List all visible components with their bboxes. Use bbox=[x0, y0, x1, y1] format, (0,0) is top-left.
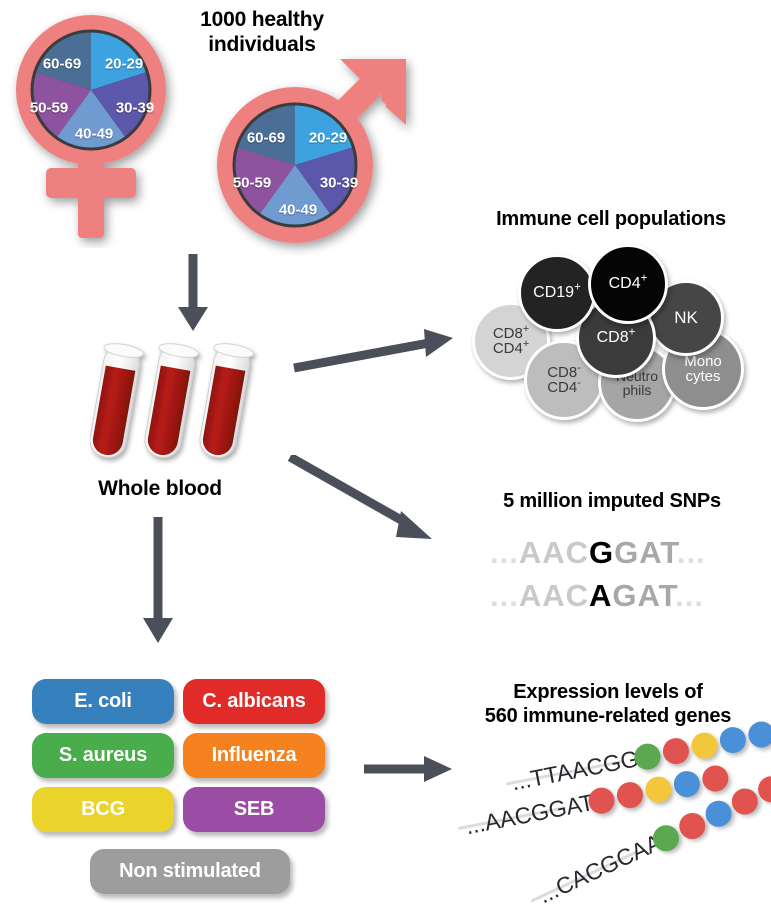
cell-label-line1: CD8+ bbox=[597, 330, 636, 346]
blood-collection-tubes bbox=[90, 340, 270, 470]
stimulus-label: E. coli bbox=[74, 690, 132, 713]
snp-sequence-row-1: ...AACGGAT... bbox=[490, 535, 706, 571]
cell-label-line2: phils bbox=[616, 383, 658, 397]
cell-label-line1: CD8- bbox=[547, 365, 581, 380]
stimulus-pill-seb[interactable]: SEB bbox=[183, 787, 325, 832]
cell-label-line2: CD4+ bbox=[493, 341, 529, 356]
expression-dot bbox=[672, 769, 702, 799]
stimulus-pill-s-aureus[interactable]: S. aureus bbox=[32, 733, 174, 778]
stimulus-label: C. albicans bbox=[202, 690, 305, 713]
snp-right: GAT bbox=[614, 535, 677, 570]
snp-sequence-row-2: ...AACAGAT... bbox=[490, 578, 704, 614]
expression-dot bbox=[643, 774, 673, 804]
expression-dot bbox=[700, 763, 730, 793]
cell-label-line1: Mono bbox=[684, 354, 722, 369]
cell-label-line2: cytes bbox=[684, 369, 722, 384]
female-gender-symbol: 20-29 30-39 40-49 50-59 60-69 bbox=[6, 8, 196, 248]
stimulus-label: Influenza bbox=[212, 744, 297, 767]
male-gender-symbol: 20-29 30-39 40-49 50-59 60-69 bbox=[200, 45, 420, 260]
expression-dot bbox=[661, 736, 691, 766]
snp-right: GAT bbox=[612, 578, 675, 613]
snp-variant: G bbox=[589, 535, 614, 570]
snp-left: AAC bbox=[519, 535, 589, 570]
arrow-blood-to-snps bbox=[288, 455, 448, 545]
cell-label-line1: CD4+ bbox=[609, 276, 648, 292]
snp-suffix: ... bbox=[675, 578, 704, 613]
stimulus-pill-non-stimulated[interactable]: Non stimulated bbox=[90, 849, 290, 894]
arrow-stimuli-to-expression bbox=[362, 752, 454, 786]
expression-dot bbox=[718, 725, 748, 755]
immune-cells-heading: Immune cell populations bbox=[455, 208, 767, 232]
snp-left: AAC bbox=[519, 578, 589, 613]
stimulus-label: BCG bbox=[81, 798, 125, 821]
snp-prefix: ... bbox=[490, 578, 519, 613]
snp-prefix: ... bbox=[490, 535, 519, 570]
snp-suffix: ... bbox=[677, 535, 706, 570]
expression-dot bbox=[615, 780, 645, 810]
female-age-pie bbox=[33, 32, 149, 148]
strand-sequence: ...AACGGAT bbox=[463, 789, 596, 840]
stimulus-pill-c-albicans[interactable]: C. albicans bbox=[183, 679, 325, 724]
expression-heading-line1: Expression levels of bbox=[448, 681, 768, 705]
snp-variant: A bbox=[589, 578, 612, 613]
immune-cell-cd4pos[interactable]: CD4+ bbox=[588, 244, 668, 324]
strand-sequence: ...CACGCAA bbox=[534, 829, 666, 910]
stimulus-label: SEB bbox=[234, 798, 275, 821]
stimulus-label: S. aureus bbox=[59, 744, 147, 767]
stimulus-pill-influenza[interactable]: Influenza bbox=[183, 733, 325, 778]
cell-label-line1: NK bbox=[674, 309, 698, 326]
expression-dot bbox=[746, 719, 771, 749]
expression-dot bbox=[689, 730, 719, 760]
stimulus-pill-bcg[interactable]: BCG bbox=[32, 787, 174, 832]
figure-canvas: 1000 healthy individuals bbox=[0, 0, 771, 922]
arrow-cohort-to-blood bbox=[175, 252, 211, 332]
cohort-heading-line1: 1000 healthy bbox=[172, 8, 352, 33]
arrow-blood-to-immune-cells bbox=[292, 325, 462, 375]
stimulus-pill-e-coli[interactable]: E. coli bbox=[32, 679, 174, 724]
snps-heading: 5 million imputed SNPs bbox=[462, 490, 762, 514]
arrow-blood-to-stimuli bbox=[140, 515, 176, 645]
immune-cell-cluster: CD8+ CD4+ CD8- CD4- Neutro phils Mono cy… bbox=[452, 240, 771, 420]
immune-cell-cd19pos[interactable]: CD19+ bbox=[518, 254, 596, 332]
expression-heading: Expression levels of 560 immune-related … bbox=[448, 681, 768, 728]
stimulus-label: Non stimulated bbox=[119, 860, 261, 883]
whole-blood-label: Whole blood bbox=[80, 477, 240, 502]
cell-label-line1: CD19+ bbox=[533, 285, 581, 301]
cell-label-line2: CD4- bbox=[547, 380, 581, 395]
